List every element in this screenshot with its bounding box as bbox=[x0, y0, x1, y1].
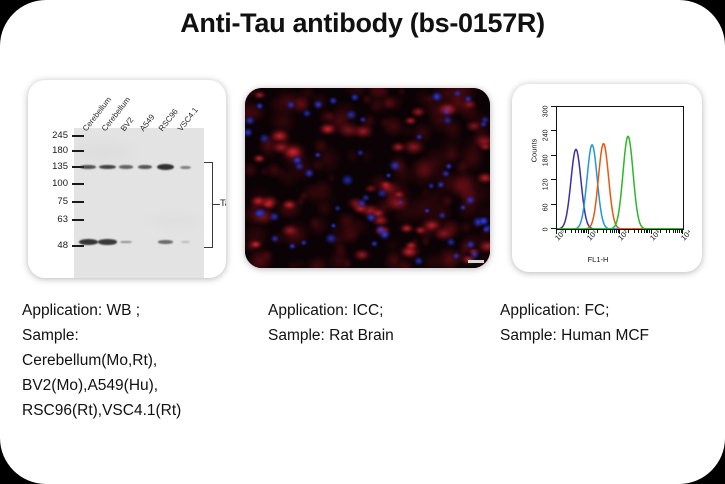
wb-band-135-lane5 bbox=[157, 164, 174, 170]
fc-y-tick-label-240: 240 bbox=[543, 130, 550, 150]
wb-membrane bbox=[74, 128, 204, 278]
mw-marker-tick bbox=[72, 245, 84, 247]
mw-marker-tick bbox=[72, 201, 84, 203]
tau-annotation-label: Tau bbox=[220, 198, 226, 209]
mw-marker-label: 63 bbox=[57, 215, 68, 225]
fc-y-tick-label-0: 0 bbox=[543, 228, 550, 248]
caption-icc: Application: ICC; Sample: Rat Brain bbox=[268, 298, 493, 348]
mw-marker-label: 135 bbox=[52, 162, 68, 172]
fc-curve-peak-2 bbox=[557, 145, 683, 229]
fc-x-minor-tick bbox=[641, 230, 642, 233]
mw-marker-75: 75 bbox=[32, 196, 84, 208]
figure-card: Anti-Tau antibody (bs-0157R) 24518013510… bbox=[0, 0, 725, 484]
fc-y-tick-120 bbox=[551, 179, 556, 180]
fc-x-minor-tick bbox=[673, 230, 674, 233]
fc-x-minor-tick bbox=[675, 230, 676, 233]
wb-band-50-lane2 bbox=[98, 239, 117, 244]
fc-y-tick-label-60: 60 bbox=[543, 203, 550, 223]
fc-y-tick-0 bbox=[551, 228, 556, 229]
fc-x-minor-tick bbox=[606, 230, 607, 233]
caption-wb-line5: RSC96(Rt),VSC4.1(Rt) bbox=[22, 398, 254, 423]
fc-x-minor-tick bbox=[638, 230, 639, 233]
caption-flow-cytometry: Application: FC; Sample: Human MCF bbox=[500, 298, 725, 348]
caption-wb-line2: Sample: bbox=[22, 323, 254, 348]
mw-marker-48: 48 bbox=[32, 240, 84, 252]
mw-marker-label: 100 bbox=[52, 179, 68, 189]
caption-fc-line1: Application: FC; bbox=[500, 298, 725, 323]
fc-x-minor-tick bbox=[578, 230, 579, 233]
fc-curve-peak-1-control bbox=[557, 149, 683, 229]
mw-marker-135: 135 bbox=[32, 161, 84, 173]
fc-y-tick-label-180: 180 bbox=[543, 154, 550, 174]
caption-icc-line2: Sample: Rat Brain bbox=[268, 323, 493, 348]
mw-marker-180: 180 bbox=[32, 145, 84, 157]
caption-wb-line4: BV2(Mo),A549(Hu), bbox=[22, 373, 254, 398]
wb-band-50-lane1 bbox=[79, 239, 98, 245]
caption-wb-line1: Application: WB ; bbox=[22, 298, 254, 323]
fc-curve-peak-3 bbox=[557, 144, 683, 229]
fc-x-minor-tick bbox=[669, 230, 670, 233]
tau-bracket-stem bbox=[213, 204, 220, 205]
fc-x-minor-tick bbox=[612, 230, 613, 233]
western-blot-panel: 245180135100756348 CerebellumCerebellumB… bbox=[28, 80, 226, 278]
wb-band-50-lane5 bbox=[158, 240, 173, 244]
fc-y-axis-label: Counts bbox=[529, 139, 538, 163]
wb-band-135-lane2 bbox=[99, 165, 116, 170]
fc-x-minor-tick bbox=[571, 230, 572, 233]
fc-y-tick-180 bbox=[551, 155, 556, 156]
mw-marker-label: 245 bbox=[52, 131, 68, 141]
icc-blue-channel bbox=[245, 88, 490, 268]
icc-scale-bar bbox=[468, 260, 484, 263]
fc-x-minor-tick bbox=[575, 230, 576, 233]
mw-marker-label: 75 bbox=[57, 197, 68, 207]
caption-fc-line2: Sample: Human MCF bbox=[500, 323, 725, 348]
wb-band-135-lane3 bbox=[119, 165, 133, 168]
fc-x-minor-tick bbox=[603, 230, 604, 233]
fc-x-minor-tick bbox=[597, 230, 598, 233]
page-title: Anti-Tau antibody (bs-0157R) bbox=[0, 8, 725, 39]
icc-panel bbox=[245, 88, 490, 268]
wb-band-50-lane6 bbox=[181, 241, 190, 243]
mw-marker-100: 100 bbox=[32, 178, 84, 190]
caption-icc-line1: Application: ICC; bbox=[268, 298, 493, 323]
fc-x-minor-tick bbox=[660, 230, 661, 233]
mw-marker-label: 48 bbox=[57, 241, 68, 251]
wb-band-135-lane1 bbox=[80, 165, 96, 169]
mw-marker-tick bbox=[72, 219, 84, 221]
fc-y-tick-240 bbox=[551, 130, 556, 131]
caption-wb-line3: Cerebellum(Mo,Rt), bbox=[22, 348, 254, 373]
fc-histogram-svg bbox=[557, 107, 683, 229]
fc-y-tick-label-120: 120 bbox=[543, 179, 550, 199]
fc-x-minor-tick bbox=[610, 230, 611, 233]
mw-marker-tick bbox=[72, 150, 84, 152]
fc-plot-area bbox=[556, 106, 684, 230]
flow-cytometry-panel: Counts 060120180240300 10⁰10¹10²10³10⁴ F… bbox=[512, 84, 702, 272]
fc-x-axis-label: FL1-H bbox=[588, 255, 609, 264]
mw-marker-tick bbox=[72, 183, 84, 185]
caption-western-blot: Application: WB ; Sample: Cerebellum(Mo,… bbox=[22, 298, 254, 424]
fc-x-minor-tick bbox=[634, 230, 635, 233]
mw-marker-tick bbox=[72, 135, 84, 137]
mw-marker-245: 245 bbox=[32, 130, 84, 142]
fc-y-tick-label-300: 300 bbox=[543, 106, 550, 126]
fc-x-minor-tick bbox=[565, 230, 566, 233]
tau-bracket bbox=[204, 162, 213, 248]
fc-x-minor-tick bbox=[628, 230, 629, 233]
wb-band-135-lane6 bbox=[180, 166, 191, 169]
fc-x-minor-tick bbox=[644, 230, 645, 233]
wb-band-135-lane4 bbox=[138, 165, 152, 169]
fc-x-minor-tick bbox=[581, 230, 582, 233]
icc-fluorescence-image bbox=[245, 88, 490, 268]
mw-marker-63: 63 bbox=[32, 214, 84, 226]
fc-x-minor-tick bbox=[666, 230, 667, 233]
mw-marker-label: 180 bbox=[52, 146, 68, 156]
fc-y-tick-300 bbox=[551, 106, 556, 107]
fc-y-tick-60 bbox=[551, 204, 556, 205]
